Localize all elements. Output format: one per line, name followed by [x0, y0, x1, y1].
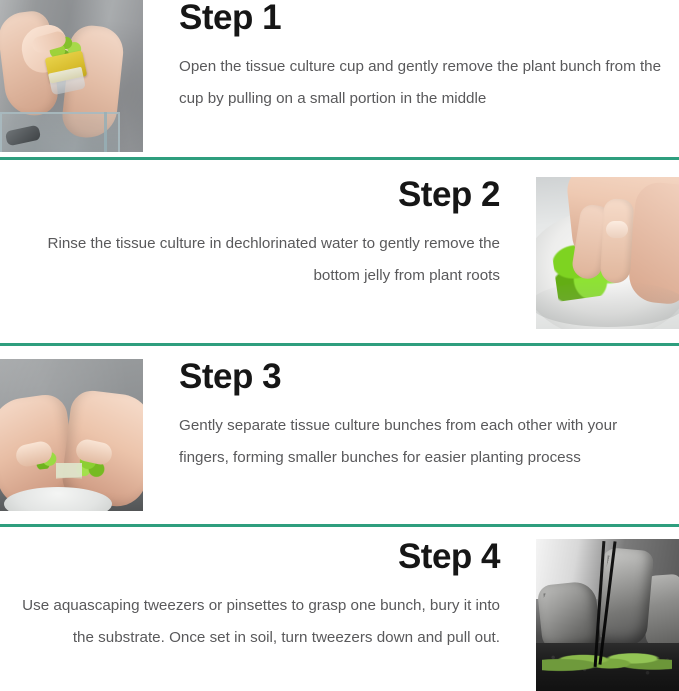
step-row-3: Step 3 Gently separate tissue culture bu… [0, 346, 679, 524]
step-row-1: Step 1 Open the tissue culture cup and g… [0, 0, 679, 157]
step-2-body: Rinse the tissue culture in dechlorinate… [10, 228, 500, 292]
step-4-heading: Step 4 [10, 539, 500, 576]
step-row-4: Step 4 Use aquascaping tweezers or pinse… [0, 527, 679, 686]
finger [600, 198, 634, 283]
step-3-photo [0, 359, 143, 511]
bowl-rim [536, 281, 679, 327]
step-row-2: Step 2 Rinse the tissue culture in dechl… [0, 160, 679, 343]
steps-infographic: Step 1 Open the tissue culture cup and g… [0, 0, 679, 683]
step-2-heading: Step 2 [10, 177, 500, 214]
step-1-text: Step 1 Open the tissue culture cup and g… [143, 0, 679, 115]
step-3-text: Step 3 Gently separate tissue culture bu… [143, 359, 679, 474]
step-3-heading: Step 3 [179, 359, 669, 396]
step-4-photo [536, 539, 679, 691]
step-4-body: Use aquascaping tweezers or pinsettes to… [10, 590, 500, 654]
step-4-text: Step 4 Use aquascaping tweezers or pinse… [0, 539, 536, 654]
step-1-heading: Step 1 [179, 0, 669, 37]
step-1-photo [0, 0, 143, 152]
step-1-body: Open the tissue culture cup and gently r… [179, 51, 669, 115]
step-2-text: Step 2 Rinse the tissue culture in dechl… [0, 177, 536, 292]
fingernail [606, 221, 628, 238]
aquarium-glass-edge [104, 112, 107, 152]
step-2-photo [536, 177, 679, 329]
planted-greenery [542, 647, 672, 677]
step-3-body: Gently separate tissue culture bunches f… [179, 410, 669, 474]
rock-texture [543, 589, 594, 646]
